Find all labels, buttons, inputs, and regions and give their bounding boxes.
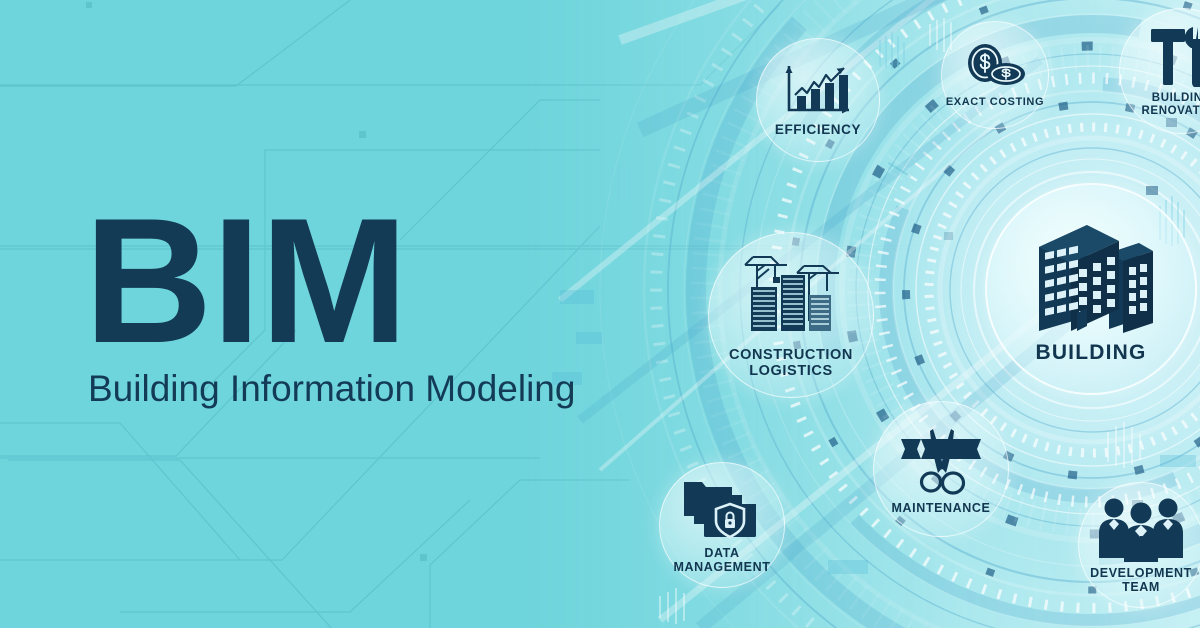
node-data-management[interactable]: DATA MANAGEMENT bbox=[659, 462, 785, 588]
node-construction-logistics[interactable]: CONSTRUCTION LOGISTICS bbox=[708, 232, 874, 398]
node-label-building-renovation: BUILDING RENOVATION bbox=[1142, 92, 1200, 116]
coins-dollar-icon bbox=[962, 42, 1028, 92]
node-maintenance[interactable]: MAINTENANCE bbox=[873, 401, 1009, 537]
page-title: BIM bbox=[84, 206, 604, 356]
node-exact-costing[interactable]: EXACT COSTING bbox=[941, 21, 1049, 129]
node-label-building: BUILDING bbox=[1035, 342, 1146, 364]
office-building-icon bbox=[1025, 213, 1157, 337]
node-label-maintenance: MAINTENANCE bbox=[892, 502, 991, 515]
page-subtitle: Building Information Modeling bbox=[88, 370, 604, 409]
node-efficiency[interactable]: EFFICIENCY bbox=[756, 38, 880, 162]
scissors-ribbon-icon bbox=[895, 423, 987, 497]
node-label-construction-logistics: CONSTRUCTION LOGISTICS bbox=[729, 348, 853, 379]
node-development-team[interactable]: DEVELOPMENT TEAM bbox=[1078, 482, 1200, 608]
node-label-development-team: DEVELOPMENT TEAM bbox=[1090, 567, 1192, 594]
three-people-icon bbox=[1095, 496, 1187, 562]
node-label-exact-costing: EXACT COSTING bbox=[946, 97, 1044, 109]
bar-chart-growth-icon bbox=[781, 62, 855, 118]
poster-canvas: BIM Building Information Modeling EFFICI… bbox=[0, 0, 1200, 628]
node-label-data-management: DATA MANAGEMENT bbox=[674, 547, 771, 574]
node-label-efficiency: EFFICIENCY bbox=[775, 123, 861, 137]
node-building[interactable]: BUILDING bbox=[985, 183, 1197, 395]
headline-block: BIM Building Information Modeling bbox=[84, 206, 604, 408]
folders-shield-lock-icon bbox=[680, 476, 764, 542]
cranes-buildings-icon bbox=[731, 251, 851, 343]
hammer-wrench-icon bbox=[1146, 25, 1200, 87]
